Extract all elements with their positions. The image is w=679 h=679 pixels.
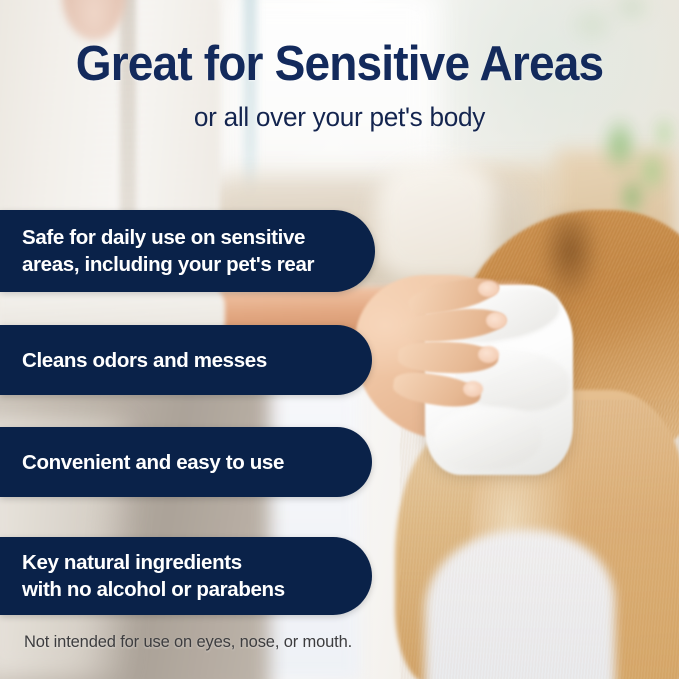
- benefit-banner-2: Cleans odors and messes: [0, 325, 372, 395]
- sofa-throw-blanket: [375, 160, 495, 280]
- benefit-banner-3-label: Convenient and easy to use: [22, 449, 284, 476]
- product-benefits-infographic: Great for Sensitive Areas or all over yo…: [0, 0, 679, 679]
- benefit-banner-3: Convenient and easy to use: [0, 427, 372, 497]
- fingernail-middle: [486, 312, 507, 329]
- benefit-banner-1: Safe for daily use on sensitive areas, i…: [0, 210, 375, 292]
- page-title: Great for Sensitive Areas: [20, 36, 658, 92]
- fingernail-ring: [478, 346, 499, 363]
- fingernail-pinky: [463, 381, 483, 397]
- benefit-banner-1-label: Safe for daily use on sensitive areas, i…: [22, 224, 314, 278]
- benefit-banner-4: Key natural ingredients with no alcohol …: [0, 537, 372, 615]
- headline-block: Great for Sensitive Areas or all over yo…: [0, 36, 679, 133]
- benefit-banner-2-label: Cleans odors and messes: [22, 347, 267, 374]
- disclaimer-text: Not intended for use on eyes, nose, or m…: [24, 632, 352, 653]
- page-subtitle: or all over your pet's body: [10, 101, 669, 133]
- fingernail-index: [478, 281, 499, 297]
- benefit-banner-4-label: Key natural ingredients with no alcohol …: [22, 549, 285, 603]
